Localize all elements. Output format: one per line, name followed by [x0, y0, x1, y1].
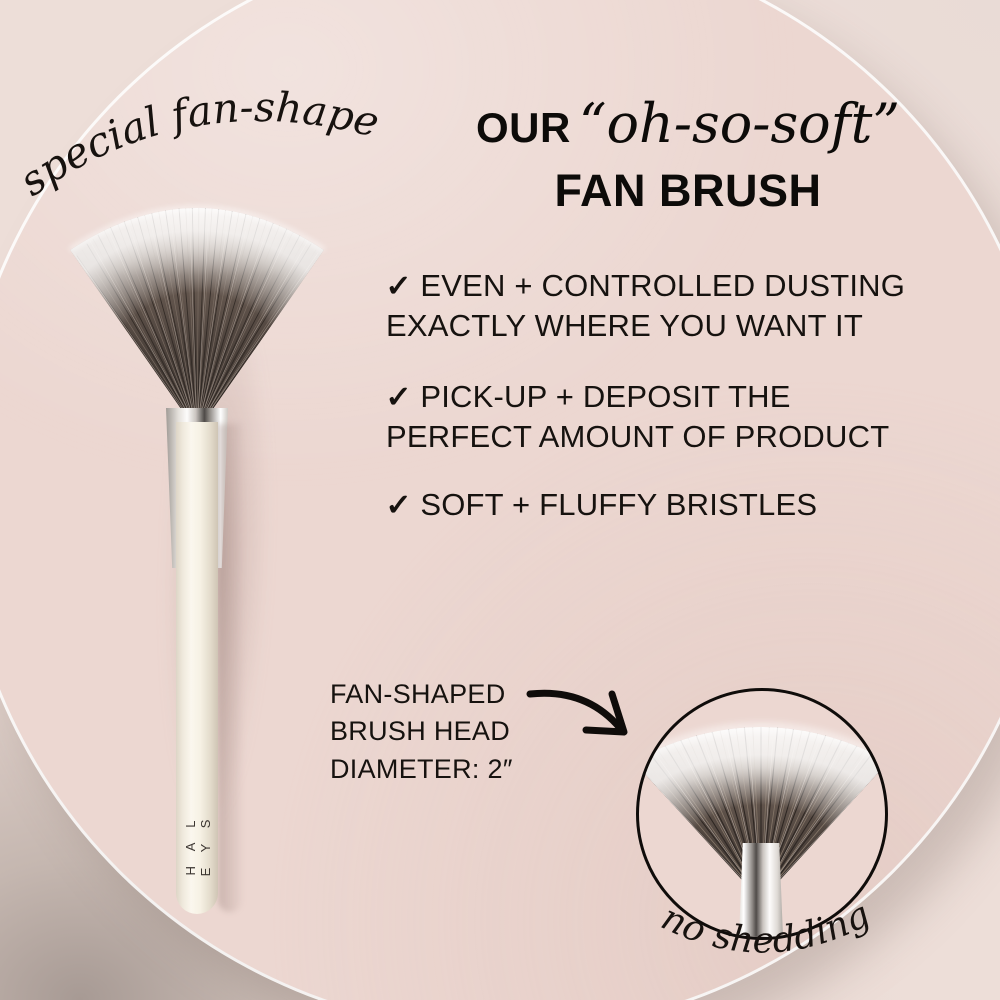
product-marketing-image: H A L E Y S special fan-shape OUR“oh-so-…	[0, 0, 1000, 1000]
feature-bullet-line: ✓PICK-UP + DEPOSIT THE	[386, 377, 986, 417]
feature-bullet-line: EXACTLY WHERE YOU WANT IT	[386, 306, 986, 346]
diameter-callout-line: BRUSH HEAD	[330, 713, 513, 750]
headline-line-2: FAN BRUSH	[392, 165, 984, 217]
headline-quoted-phrase: “oh-so-soft”	[571, 92, 900, 155]
headline-word-our: OUR	[476, 104, 571, 151]
feature-bullet-line: ✓SOFT + FLUFFY BRISTLES	[386, 485, 986, 525]
fan-brush-product-photo: H A L E Y S	[30, 140, 370, 950]
feature-bullet: ✓SOFT + FLUFFY BRISTLES	[386, 485, 986, 525]
feature-bullet-text: EVEN + CONTROLLED DUSTING	[420, 268, 905, 303]
feature-bullet-text: SOFT + FLUFFY BRISTLES	[420, 487, 817, 522]
feature-bullet-line: PERFECT AMOUNT OF PRODUCT	[386, 417, 986, 457]
feature-bullet: ✓PICK-UP + DEPOSIT THE PERFECT AMOUNT OF…	[386, 377, 986, 458]
brush-handle-shadow	[218, 424, 242, 912]
brush-head-closeup-inset	[636, 688, 888, 940]
check-icon: ✓	[385, 267, 412, 306]
headline-block: OUR“oh-so-soft” FAN BRUSH	[392, 96, 984, 217]
feature-bullet-line: ✓EVEN + CONTROLLED DUSTING	[386, 266, 986, 306]
feature-bullet: ✓EVEN + CONTROLLED DUSTING EXACTLY WHERE…	[386, 266, 986, 347]
feature-bullet-text: PICK-UP + DEPOSIT THE	[420, 379, 790, 414]
check-icon: ✓	[385, 486, 412, 525]
feature-bullet-list: ✓EVEN + CONTROLLED DUSTING EXACTLY WHERE…	[386, 266, 986, 555]
diameter-callout-line: FAN-SHAPED	[330, 676, 513, 713]
check-icon: ✓	[385, 378, 412, 417]
headline-line-1: OUR“oh-so-soft”	[392, 96, 984, 153]
diameter-callout-line: DIAMETER: 2″	[330, 751, 513, 788]
diameter-callout: FAN-SHAPED BRUSH HEAD DIAMETER: 2″	[330, 676, 513, 788]
brush-bristle-head	[30, 140, 370, 440]
inset-brush-ferrule	[737, 843, 785, 940]
handle-brand-text: H A L E Y S	[183, 805, 213, 885]
